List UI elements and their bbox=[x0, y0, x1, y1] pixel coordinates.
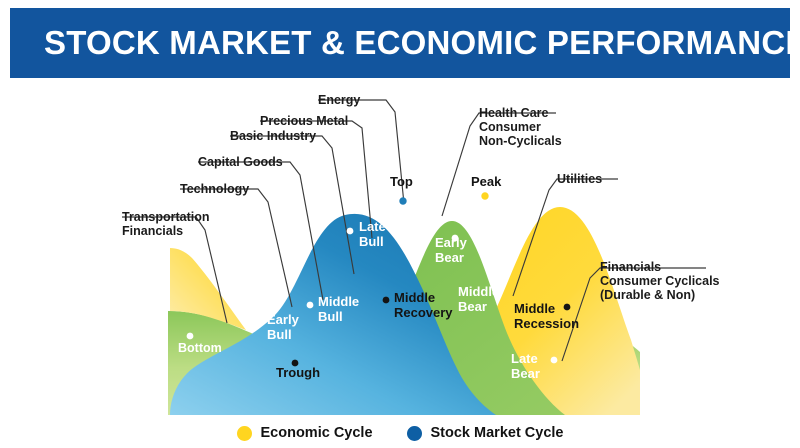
label-transportation-financials: Transportation Financials bbox=[122, 210, 210, 238]
label-utilities: Utilities bbox=[557, 172, 602, 186]
legend-item-stock-market-cycle[interactable]: Stock Market Cycle bbox=[407, 425, 564, 441]
legend-label-stock-market-cycle: Stock Market Cycle bbox=[431, 425, 564, 441]
infographic-root: STOCK MARKET & ECONOMIC PERFORMANCE bbox=[0, 0, 800, 448]
label-early-bull: Early Bull bbox=[267, 313, 299, 342]
title-banner: STOCK MARKET & ECONOMIC PERFORMANCE bbox=[10, 8, 790, 78]
middle-bull-dot bbox=[307, 302, 314, 309]
late-bull-dot bbox=[347, 228, 354, 235]
middle-recovery-dot bbox=[383, 297, 390, 304]
label-top: Top bbox=[390, 175, 413, 190]
peak-dot bbox=[481, 192, 488, 199]
label-health-care-consumer-non-cyclicals: Health Care Consumer Non-Cyclicals bbox=[479, 106, 562, 148]
label-capital-goods: Capital Goods bbox=[198, 155, 283, 169]
top-dot bbox=[399, 197, 406, 204]
legend-item-economic-cycle[interactable]: Economic Cycle bbox=[237, 425, 373, 441]
yellow-dot-icon bbox=[237, 426, 252, 441]
label-basic-industry: Basic Industry bbox=[230, 129, 316, 143]
early-bull-dot bbox=[255, 320, 262, 327]
page-title: STOCK MARKET & ECONOMIC PERFORMANCE bbox=[10, 24, 800, 62]
label-bottom: Bottom bbox=[178, 341, 222, 355]
label-technology: Technology bbox=[180, 182, 249, 196]
label-middle-recovery: Middle Recovery bbox=[394, 291, 453, 320]
label-early-bear: Early Bear bbox=[435, 236, 467, 265]
label-middle-bull: Middle Bull bbox=[318, 295, 359, 324]
label-middle-recession: Middle Recession bbox=[514, 302, 579, 331]
label-trough: Trough bbox=[276, 366, 320, 381]
legend-label-economic-cycle: Economic Cycle bbox=[261, 425, 373, 441]
chart-legend: Economic Cycle Stock Market Cycle bbox=[0, 418, 800, 448]
label-precious-metal: Precious Metal bbox=[260, 114, 348, 128]
label-middle-bear: Middle Bear bbox=[458, 285, 499, 314]
late-bear-dot bbox=[551, 357, 558, 364]
blue-dot-icon bbox=[407, 426, 422, 441]
label-financials-consumer-cyclicals: Financials Consumer Cyclicals (Durable &… bbox=[600, 260, 720, 302]
label-late-bear: Late Bear bbox=[511, 352, 540, 381]
label-peak: Peak bbox=[471, 175, 501, 190]
label-late-bull: Late Bull bbox=[359, 220, 386, 249]
bottom-dot bbox=[187, 333, 194, 340]
label-energy: Energy bbox=[318, 93, 360, 107]
